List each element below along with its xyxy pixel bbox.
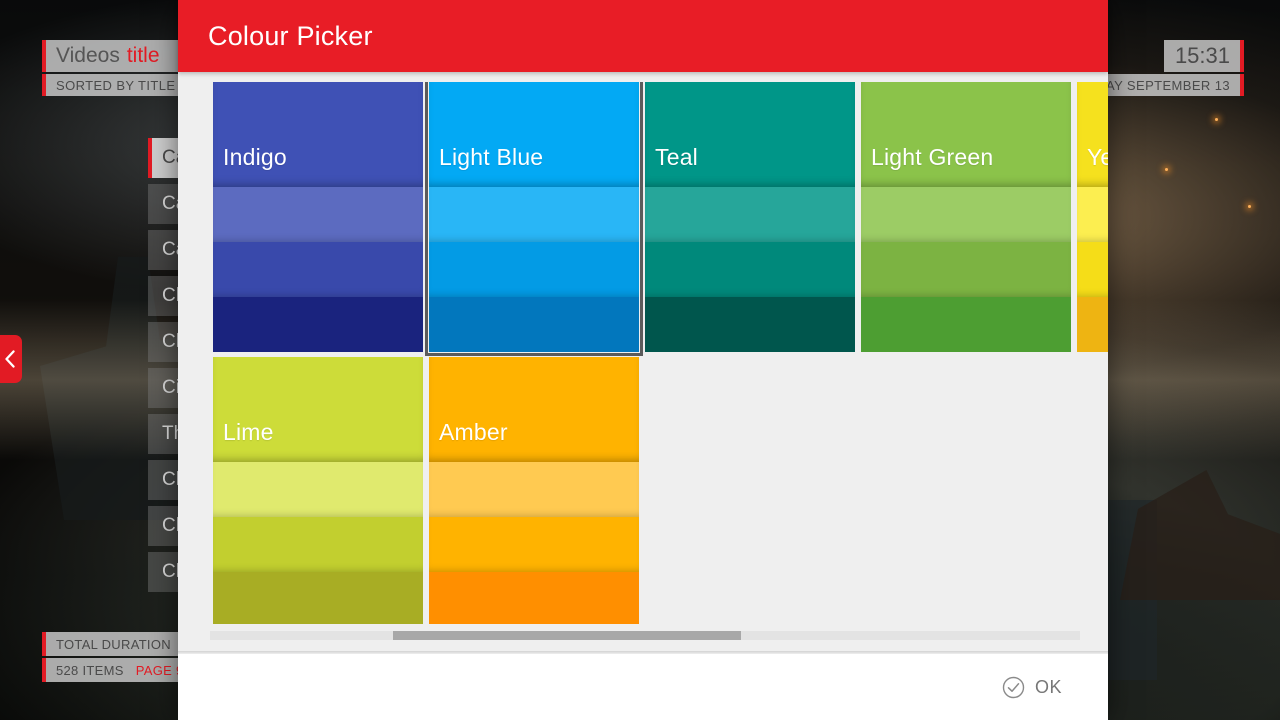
colour-swatch-shade-band[interactable] [213, 297, 423, 352]
scrollbar-thumb[interactable] [393, 631, 741, 640]
ok-button-label: OK [1035, 677, 1062, 698]
dialog-header: Colour Picker [178, 0, 1108, 72]
colour-swatch-shade-band[interactable] [429, 187, 639, 242]
colour-swatch-shade-band[interactable] [429, 517, 639, 572]
colour-swatch-primary-band[interactable]: Amber [429, 357, 639, 462]
colour-swatch-primary-band[interactable]: Lime [213, 357, 423, 462]
page-title-text: Videos [56, 44, 120, 68]
check-circle-icon [1002, 676, 1025, 699]
colour-swatch-amber[interactable]: Amber [429, 357, 639, 624]
colour-swatch-yellow[interactable]: Yellow [1077, 82, 1108, 352]
colour-swatch-shade-band[interactable] [213, 572, 423, 624]
total-duration-label: TOTAL DURATION [56, 637, 171, 652]
colour-swatch-primary-band[interactable]: Indigo [213, 82, 423, 187]
colour-swatch-shade-band[interactable] [645, 187, 855, 242]
colour-swatch-shade-band[interactable] [1077, 297, 1108, 352]
dialog-title: Colour Picker [208, 21, 373, 52]
colour-swatch-shade-band[interactable] [429, 242, 639, 297]
colour-swatch-label: Yellow [1087, 144, 1108, 171]
colour-swatch-primary-band[interactable]: Light Blue [429, 82, 639, 187]
colour-swatch-shade-band[interactable] [861, 242, 1071, 297]
page-title-accent: title [127, 44, 160, 68]
clock: 15:31 [1164, 40, 1244, 72]
horizontal-scrollbar[interactable] [210, 631, 1080, 640]
colour-swatch-shade-band[interactable] [645, 297, 855, 352]
colour-swatch-indigo[interactable]: Indigo [213, 82, 423, 352]
colour-swatch-primary-band[interactable]: Yellow [1077, 82, 1108, 187]
clock-text: 15:31 [1175, 43, 1230, 69]
colour-swatch-shade-band[interactable] [1077, 242, 1108, 297]
colour-swatch-shade-band[interactable] [1077, 187, 1108, 242]
background-artwork-boat [1120, 470, 1280, 600]
colour-swatch-shade-band[interactable] [429, 462, 639, 517]
colour-swatch-shade-band[interactable] [861, 187, 1071, 242]
colour-picker-dialog: Colour Picker IndigoLight BlueTealLight … [178, 0, 1108, 720]
colour-swatch-label: Light Blue [439, 144, 543, 171]
colour-swatch-primary-band[interactable]: Teal [645, 82, 855, 187]
dialog-body: IndigoLight BlueTealLight GreenYellowBlu… [178, 72, 1108, 654]
background-artwork-spark [1248, 205, 1251, 208]
colour-swatch-shade-band[interactable] [213, 462, 423, 517]
colour-swatch-shade-band[interactable] [429, 297, 639, 352]
colour-swatch-label: Teal [655, 144, 698, 171]
colour-swatch-label: Amber [439, 419, 508, 446]
item-count-text: 528 ITEMS [56, 663, 124, 678]
colour-swatch-grid[interactable]: IndigoLight BlueTealLight GreenYellowBlu… [210, 82, 1108, 624]
body-divider [178, 651, 1108, 654]
colour-swatch-primary-band[interactable]: Light Green [861, 82, 1071, 187]
colour-swatch-viewport[interactable]: IndigoLight BlueTealLight GreenYellowBlu… [178, 82, 1108, 624]
background-artwork-spark [1215, 118, 1218, 121]
colour-swatch-label: Light Green [871, 144, 993, 171]
colour-swatch-shade-band[interactable] [861, 297, 1071, 352]
colour-swatch-shade-band[interactable] [429, 572, 639, 624]
ok-button[interactable]: OK [1002, 676, 1062, 699]
colour-swatch-shade-band[interactable] [213, 187, 423, 242]
colour-swatch-shade-band[interactable] [213, 517, 423, 572]
colour-swatch-shade-band[interactable] [645, 242, 855, 297]
colour-swatch-lime[interactable]: Lime [213, 357, 423, 624]
colour-swatch-label: Lime [223, 419, 274, 446]
colour-swatch-label: Indigo [223, 144, 287, 171]
colour-swatch-shade-band[interactable] [213, 242, 423, 297]
background-artwork-spark [1165, 168, 1168, 171]
sidebar-toggle-button[interactable] [0, 335, 22, 383]
dialog-footer: OK [178, 654, 1108, 720]
colour-swatch-light-green[interactable]: Light Green [861, 82, 1071, 352]
chevron-left-icon [4, 350, 15, 368]
colour-swatch-teal[interactable]: Teal [645, 82, 855, 352]
sort-order-text: SORTED BY TITLE [56, 78, 175, 93]
colour-swatch-light-blue[interactable]: Light Blue [429, 82, 639, 352]
